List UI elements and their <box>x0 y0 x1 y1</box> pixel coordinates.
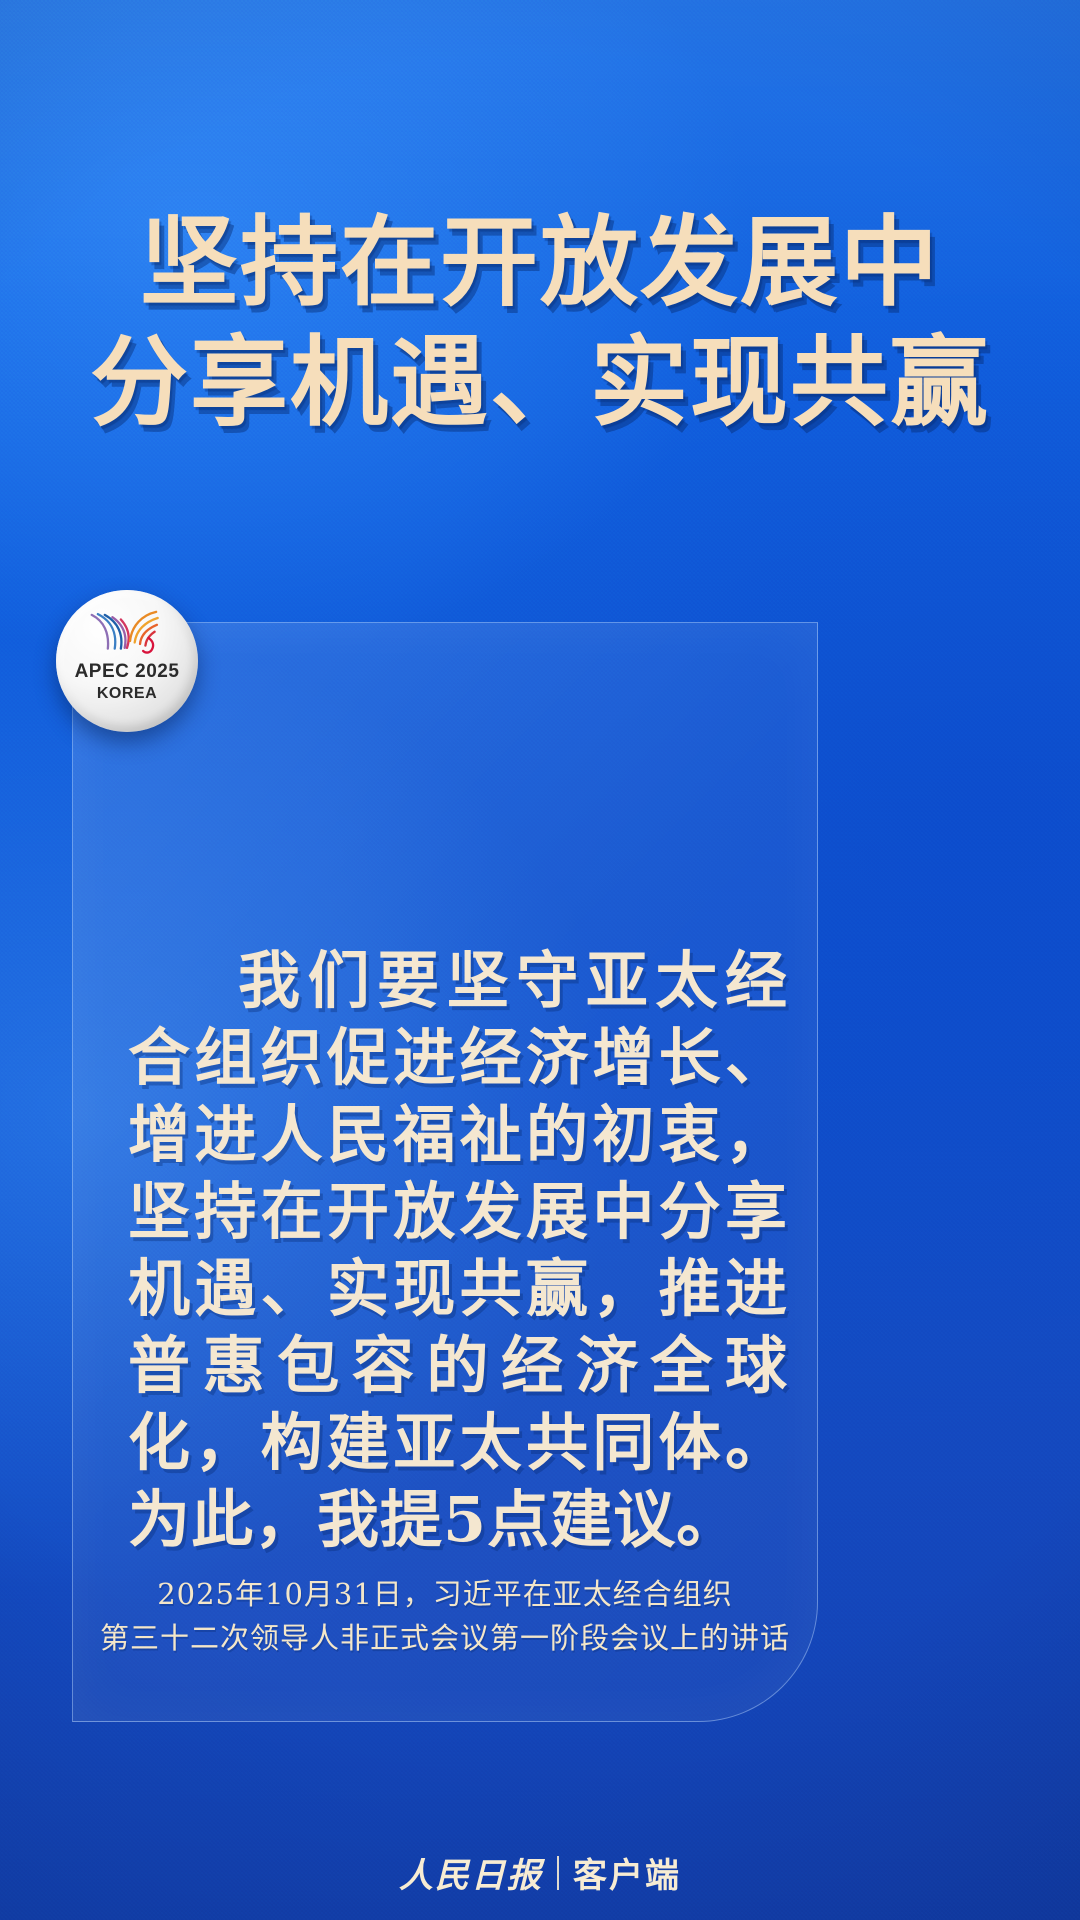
headline-line-1: 坚持在开放发展中 <box>0 206 1080 320</box>
footer-divider <box>557 1856 559 1890</box>
quote-text: 我们要坚守亚太经合组织促进经济增长、增进人民福祉的初衷，坚持在开放发展中分享机遇… <box>128 942 788 1558</box>
footer-app-name: 客户端 <box>573 1848 681 1897</box>
apec-badge-host: KOREA <box>97 686 157 702</box>
attribution: 2025年10月31日，习近平在亚太经合组织 第三十二次领导人非正式会议第一阶段… <box>72 1572 818 1660</box>
headline-line-2: 分享机遇、实现共赢 <box>0 326 1080 440</box>
apec-faces-icon <box>81 604 173 658</box>
apec-badge-year: APEC 2025 <box>75 662 180 681</box>
apec-badge: APEC 2025 KOREA <box>56 590 198 732</box>
page-title: 坚持在开放发展中 分享机遇、实现共赢 <box>0 206 1080 440</box>
attribution-line-2: 第三十二次领导人非正式会议第一阶段会议上的讲话 <box>72 1616 818 1660</box>
attribution-line-1: 2025年10月31日，习近平在亚太经合组织 <box>72 1572 818 1616</box>
footer-brand-name: 人民日报 <box>399 1848 543 1897</box>
poster-root: 坚持在开放发展中 分享机遇、实现共赢 APEC 2025 KOREA <box>0 0 1080 1920</box>
footer-logo: 人民日报 客户端 <box>0 1848 1080 1897</box>
